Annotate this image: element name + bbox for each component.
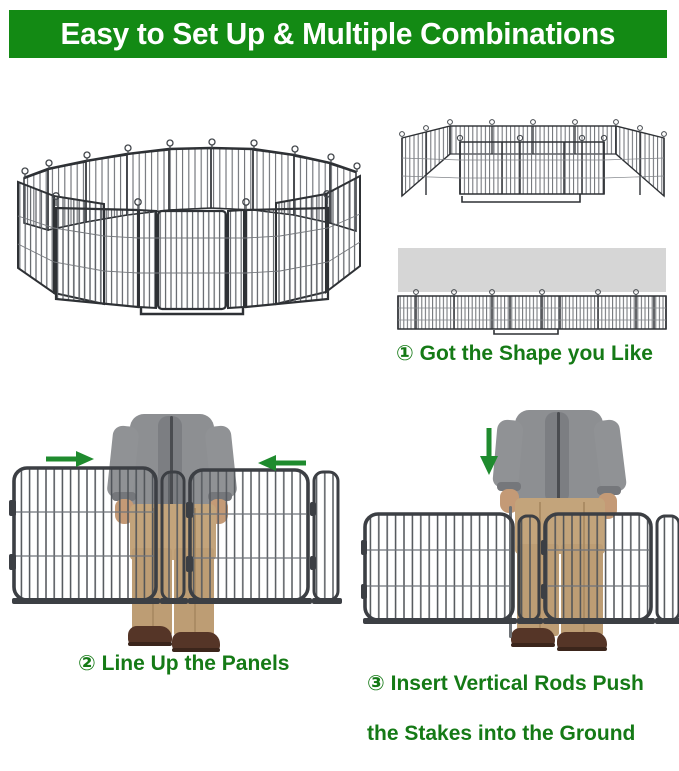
illustration-step-2: [0, 398, 345, 643]
arrow-left-icon: [256, 452, 308, 474]
step-1-caption: ① Got the Shape you Like: [396, 341, 653, 366]
illustration-step-3: [345, 398, 679, 643]
step-3-caption-line-2: the Stakes into the Ground: [367, 721, 644, 746]
rectangle-playpen-svg: [392, 112, 674, 216]
octagon-playpen-svg: [8, 118, 376, 318]
step-3-caption: ③ Insert Vertical Rods Push the Stakes i…: [367, 646, 644, 771]
infographic-page: Easy to Set Up & Multiple Combinations: [0, 0, 679, 699]
step-2-caption: ② Line Up the Panels: [78, 651, 290, 676]
arrow-down-icon: [477, 426, 501, 476]
step-3-caption-line-1: ③ Insert Vertical Rods Push: [367, 671, 644, 696]
page-title: Easy to Set Up & Multiple Combinations: [61, 16, 616, 52]
hinge-sleeve: [9, 500, 16, 516]
step3-panels-svg: [361, 508, 679, 648]
step2-panels-svg: [4, 458, 344, 648]
header-banner: Easy to Set Up & Multiple Combinations: [9, 10, 667, 58]
illustration-rectangle-playpen: [392, 112, 674, 216]
jacket-zipper: [557, 412, 560, 506]
arrow-right-icon: [44, 448, 96, 470]
illustration-octagon-playpen: [8, 118, 376, 318]
straight-fence-svg: [392, 286, 674, 336]
